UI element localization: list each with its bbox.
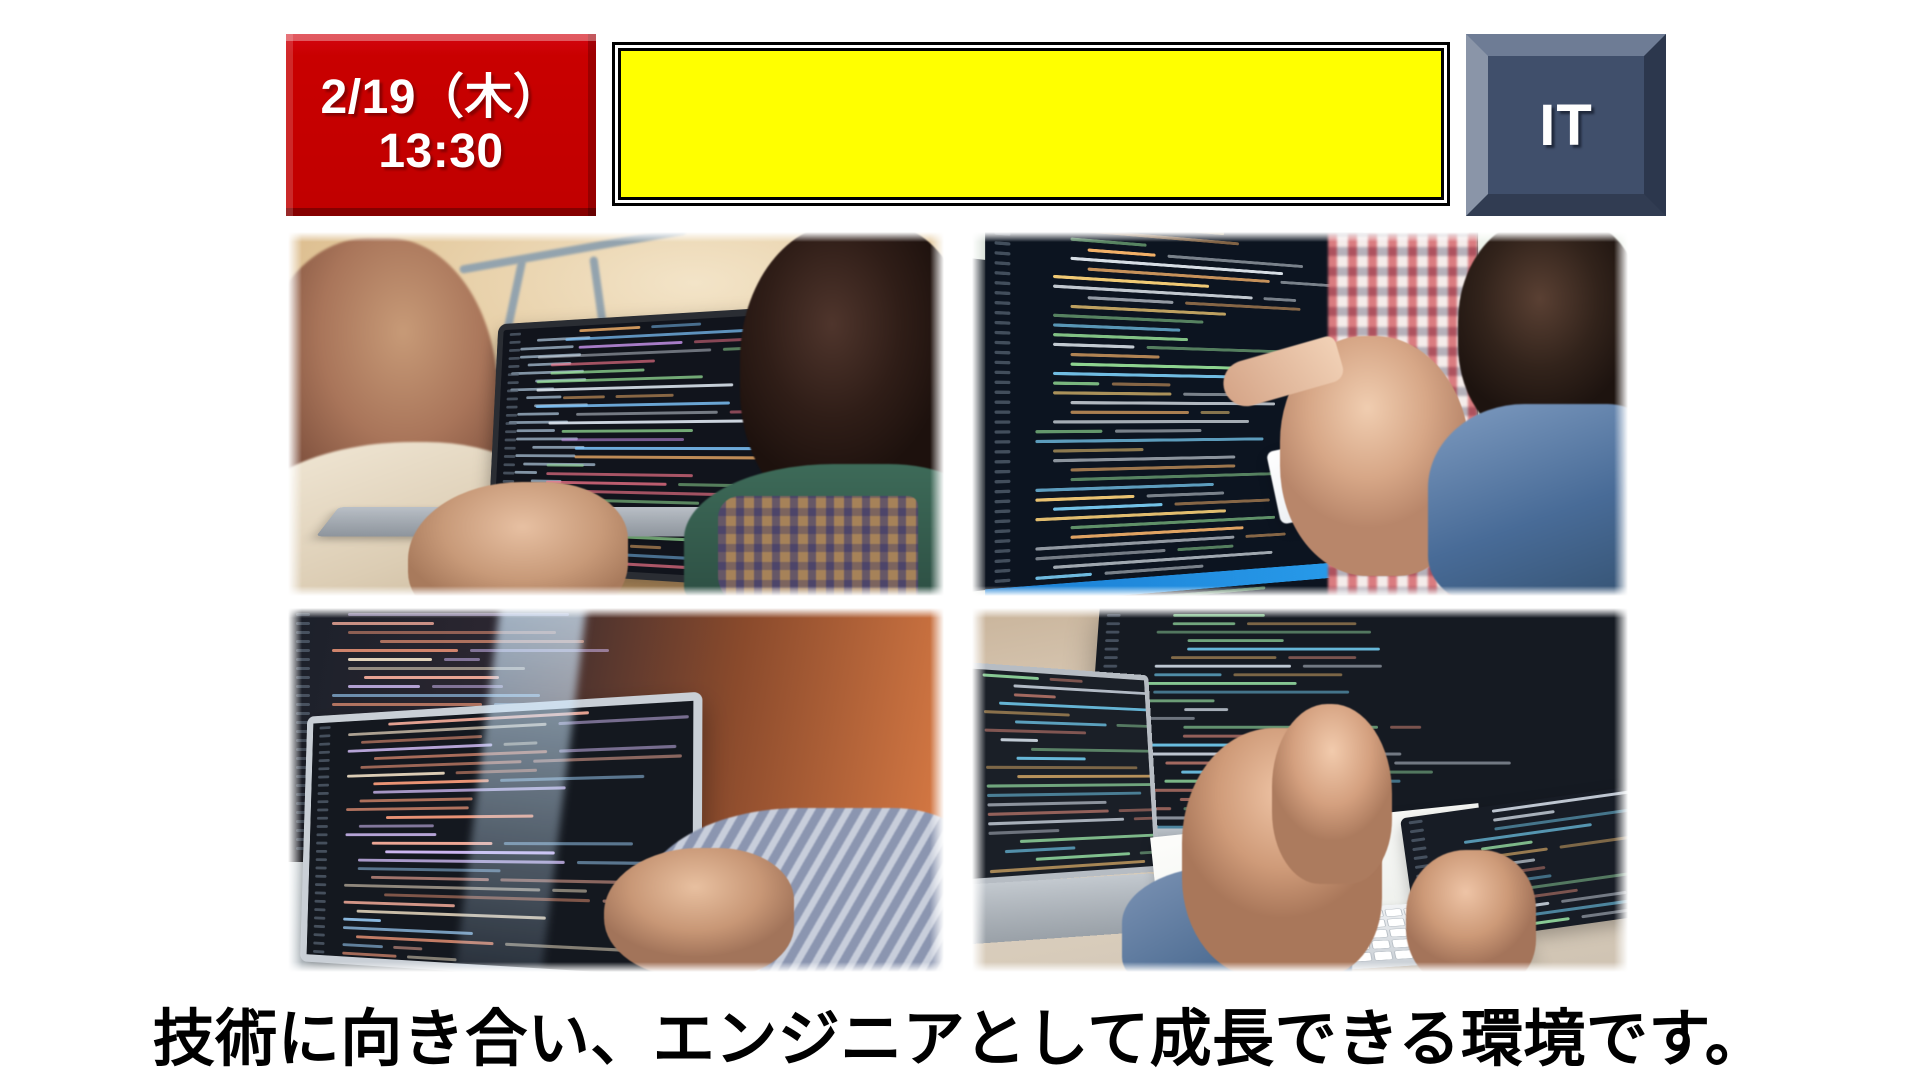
code-lines (972, 666, 1155, 880)
category-button-it[interactable]: IT (1466, 34, 1666, 216)
photo-desk-overhead-collab (972, 608, 1628, 972)
date-time-badge: 2/19（木） 13:30 (286, 34, 596, 216)
photo-laptop-pair-review (288, 232, 944, 596)
badge-date-line: 2/19（木） (321, 71, 562, 125)
photo-laptop-coding (288, 608, 944, 972)
category-button-label: IT (1539, 92, 1593, 159)
slide-caption: 技術に向き合い、エンジニアとして成長できる環境です。 (0, 988, 1920, 1078)
title-plate-inner (618, 48, 1444, 200)
title-plate (612, 42, 1450, 206)
photo-grid (288, 232, 1628, 972)
category-button-face: IT (1466, 34, 1666, 216)
photo-monitor-code-pointing (972, 232, 1628, 596)
badge-time-line: 13:30 (378, 125, 503, 179)
header-row: 2/19（木） 13:30 IT (0, 0, 1920, 225)
